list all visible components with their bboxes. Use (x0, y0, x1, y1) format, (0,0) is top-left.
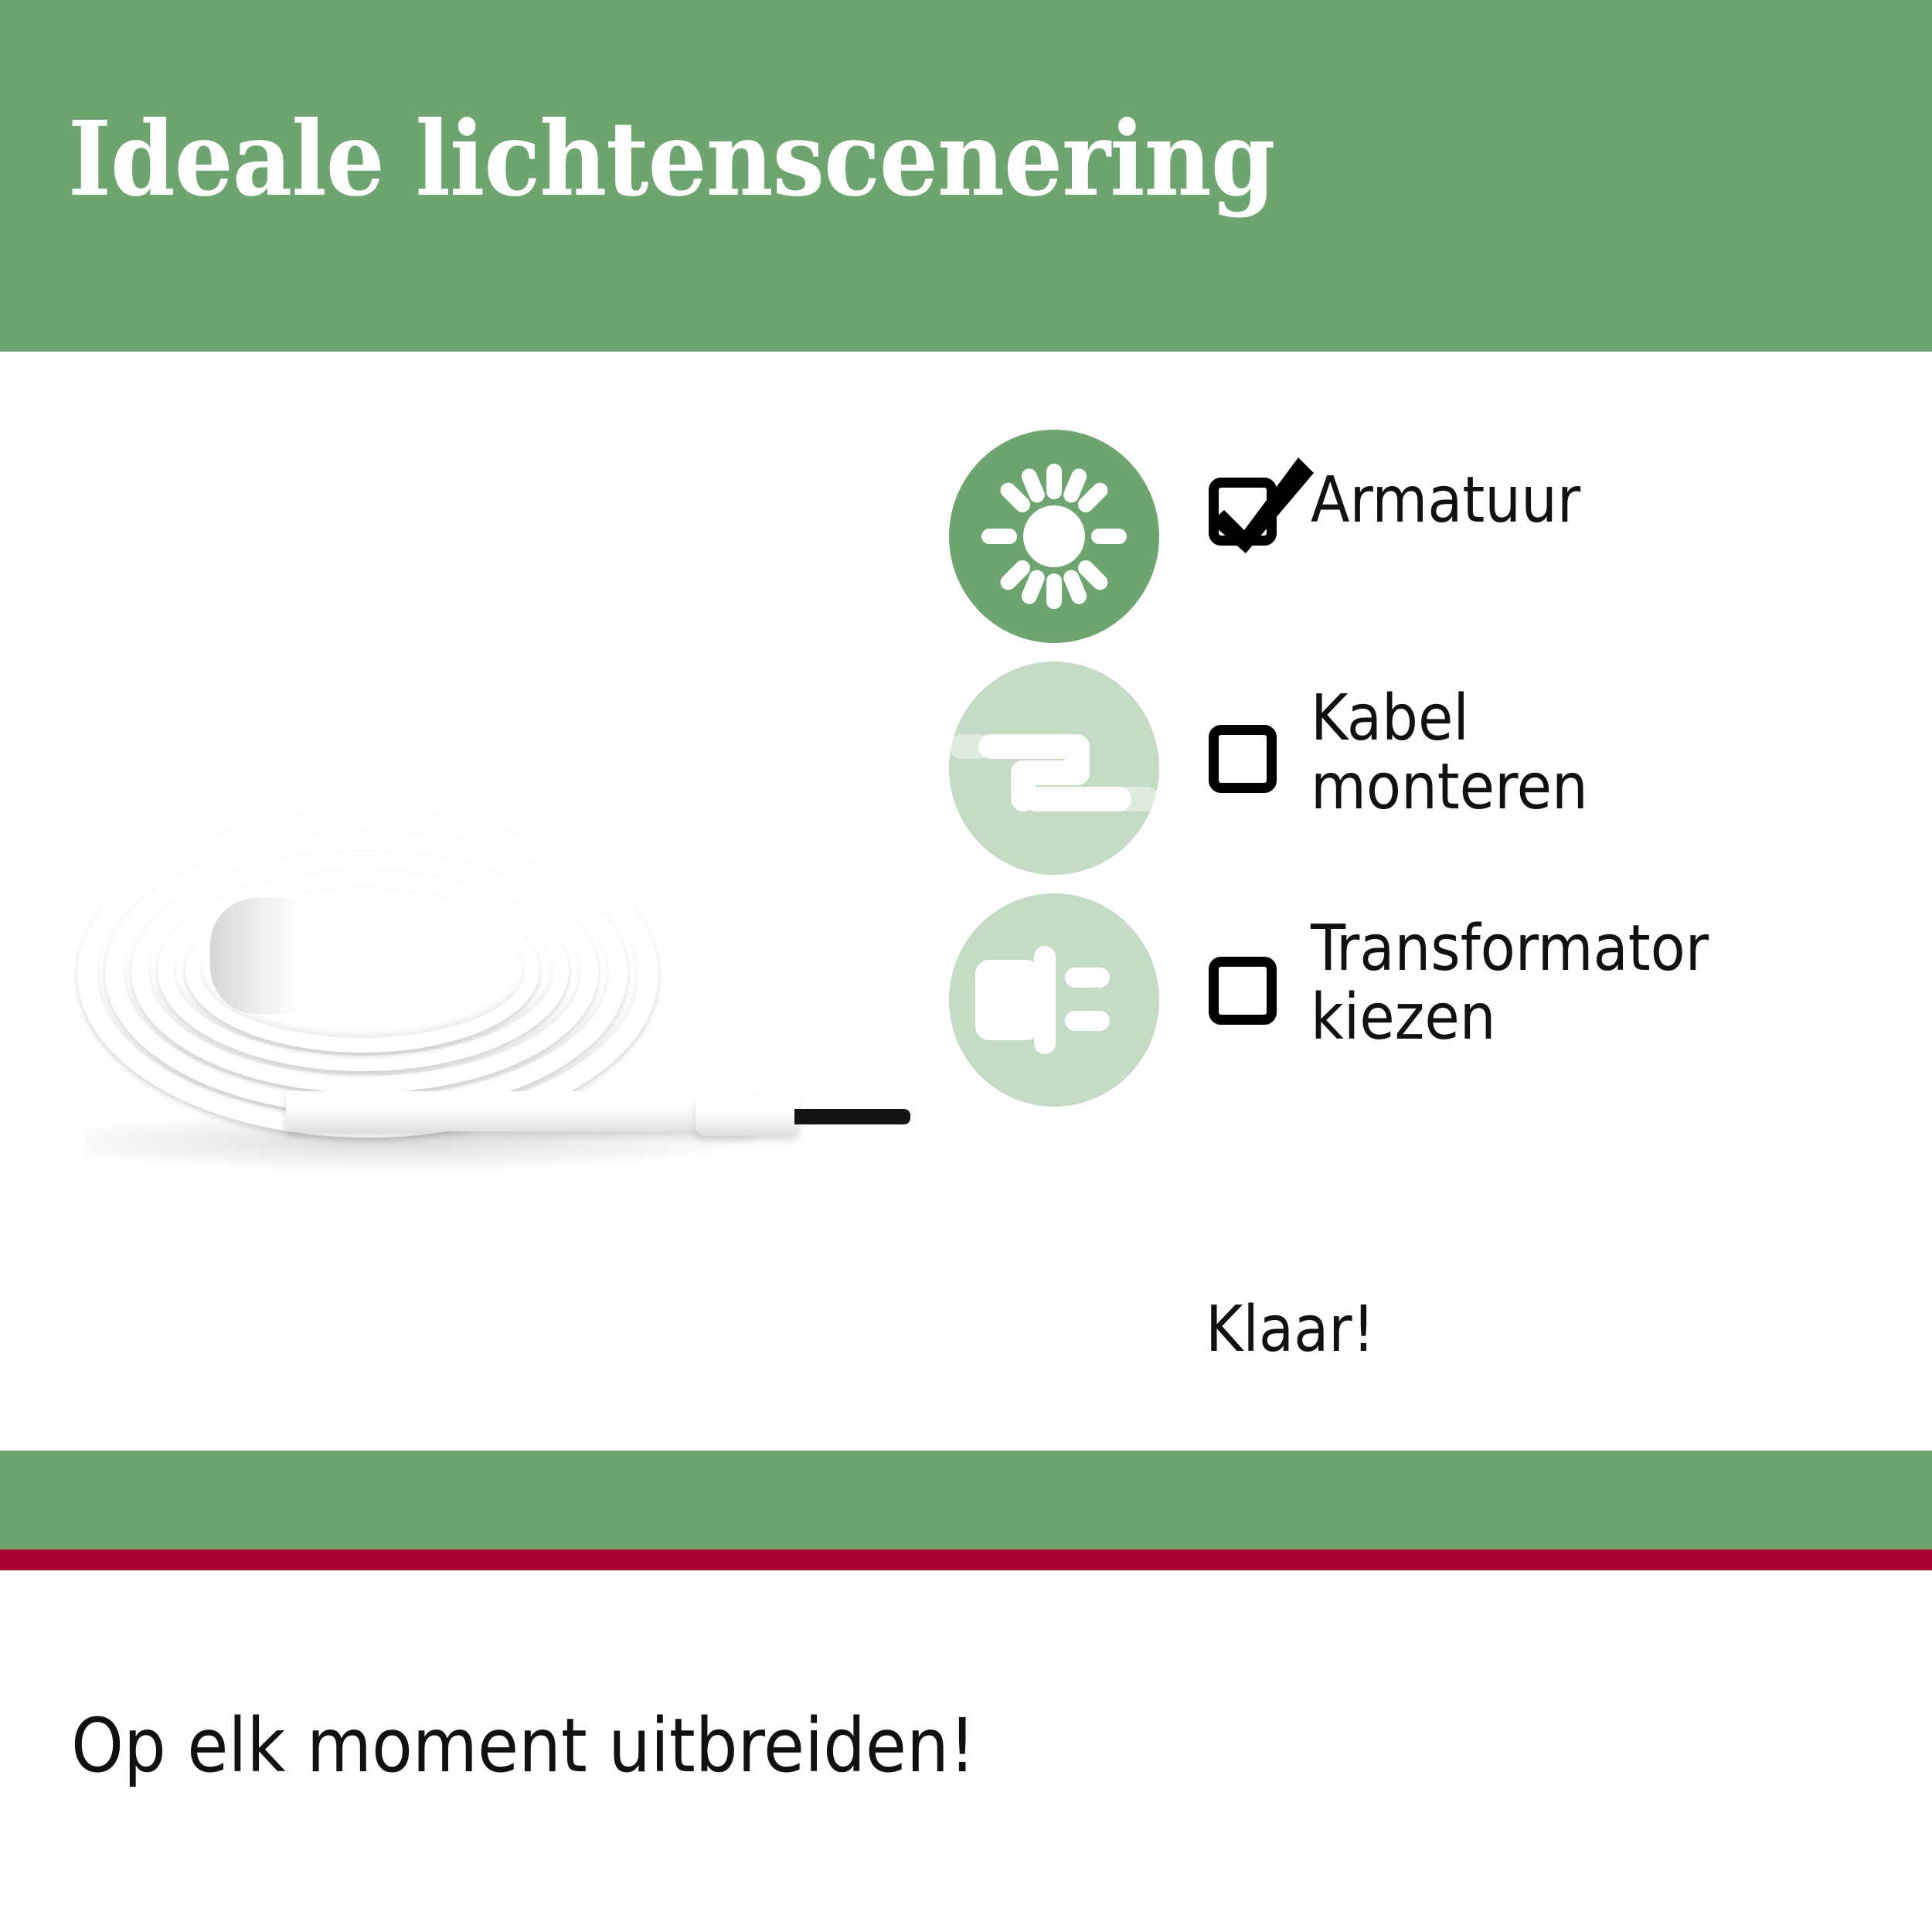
checklist-step-armatuur[interactable]: Armatuur (949, 430, 1876, 662)
coil-inner-shading (210, 898, 303, 1014)
checklist-step-label: Transformator kiezen (1311, 915, 1709, 1052)
checklist-step-label: Kabel monteren (1311, 685, 1588, 821)
led-strip-coil (77, 811, 680, 1136)
checklist-done-label: Klaar! (1206, 1293, 1375, 1366)
installation-checklist: Armatuur Kabel monteren (949, 430, 1876, 1125)
footer-green-band (0, 1451, 1932, 1549)
power-cable (794, 1109, 910, 1124)
checklist-step-transformator-kiezen[interactable]: Transformator kiezen (949, 893, 1876, 1125)
checklist-step-label: Armatuur (1311, 467, 1580, 536)
checkbox-kabel-monteren[interactable] (1209, 725, 1277, 793)
checkbox-transformator-kiezen[interactable] (1209, 957, 1277, 1025)
cable-icon (949, 662, 1159, 875)
checklist-step-kabel-monteren[interactable]: Kabel monteren (949, 662, 1876, 893)
header-band: Ideale lichtenscenering (0, 0, 1932, 352)
footer-crimson-band (0, 1549, 1932, 1570)
checkmark-icon (1206, 453, 1314, 553)
page-title: Ideale lichtenscenering (68, 108, 1274, 211)
strip-connector (696, 1096, 800, 1136)
promo-card: Ideale lichtenscenering (0, 0, 1932, 1932)
footer-tagline: Op elk moment uitbreiden! (71, 1702, 975, 1789)
led-strip-tail (286, 1091, 765, 1131)
sun-icon (949, 430, 1159, 643)
product-image-led-strip (54, 804, 935, 1213)
plug-icon (949, 893, 1159, 1107)
